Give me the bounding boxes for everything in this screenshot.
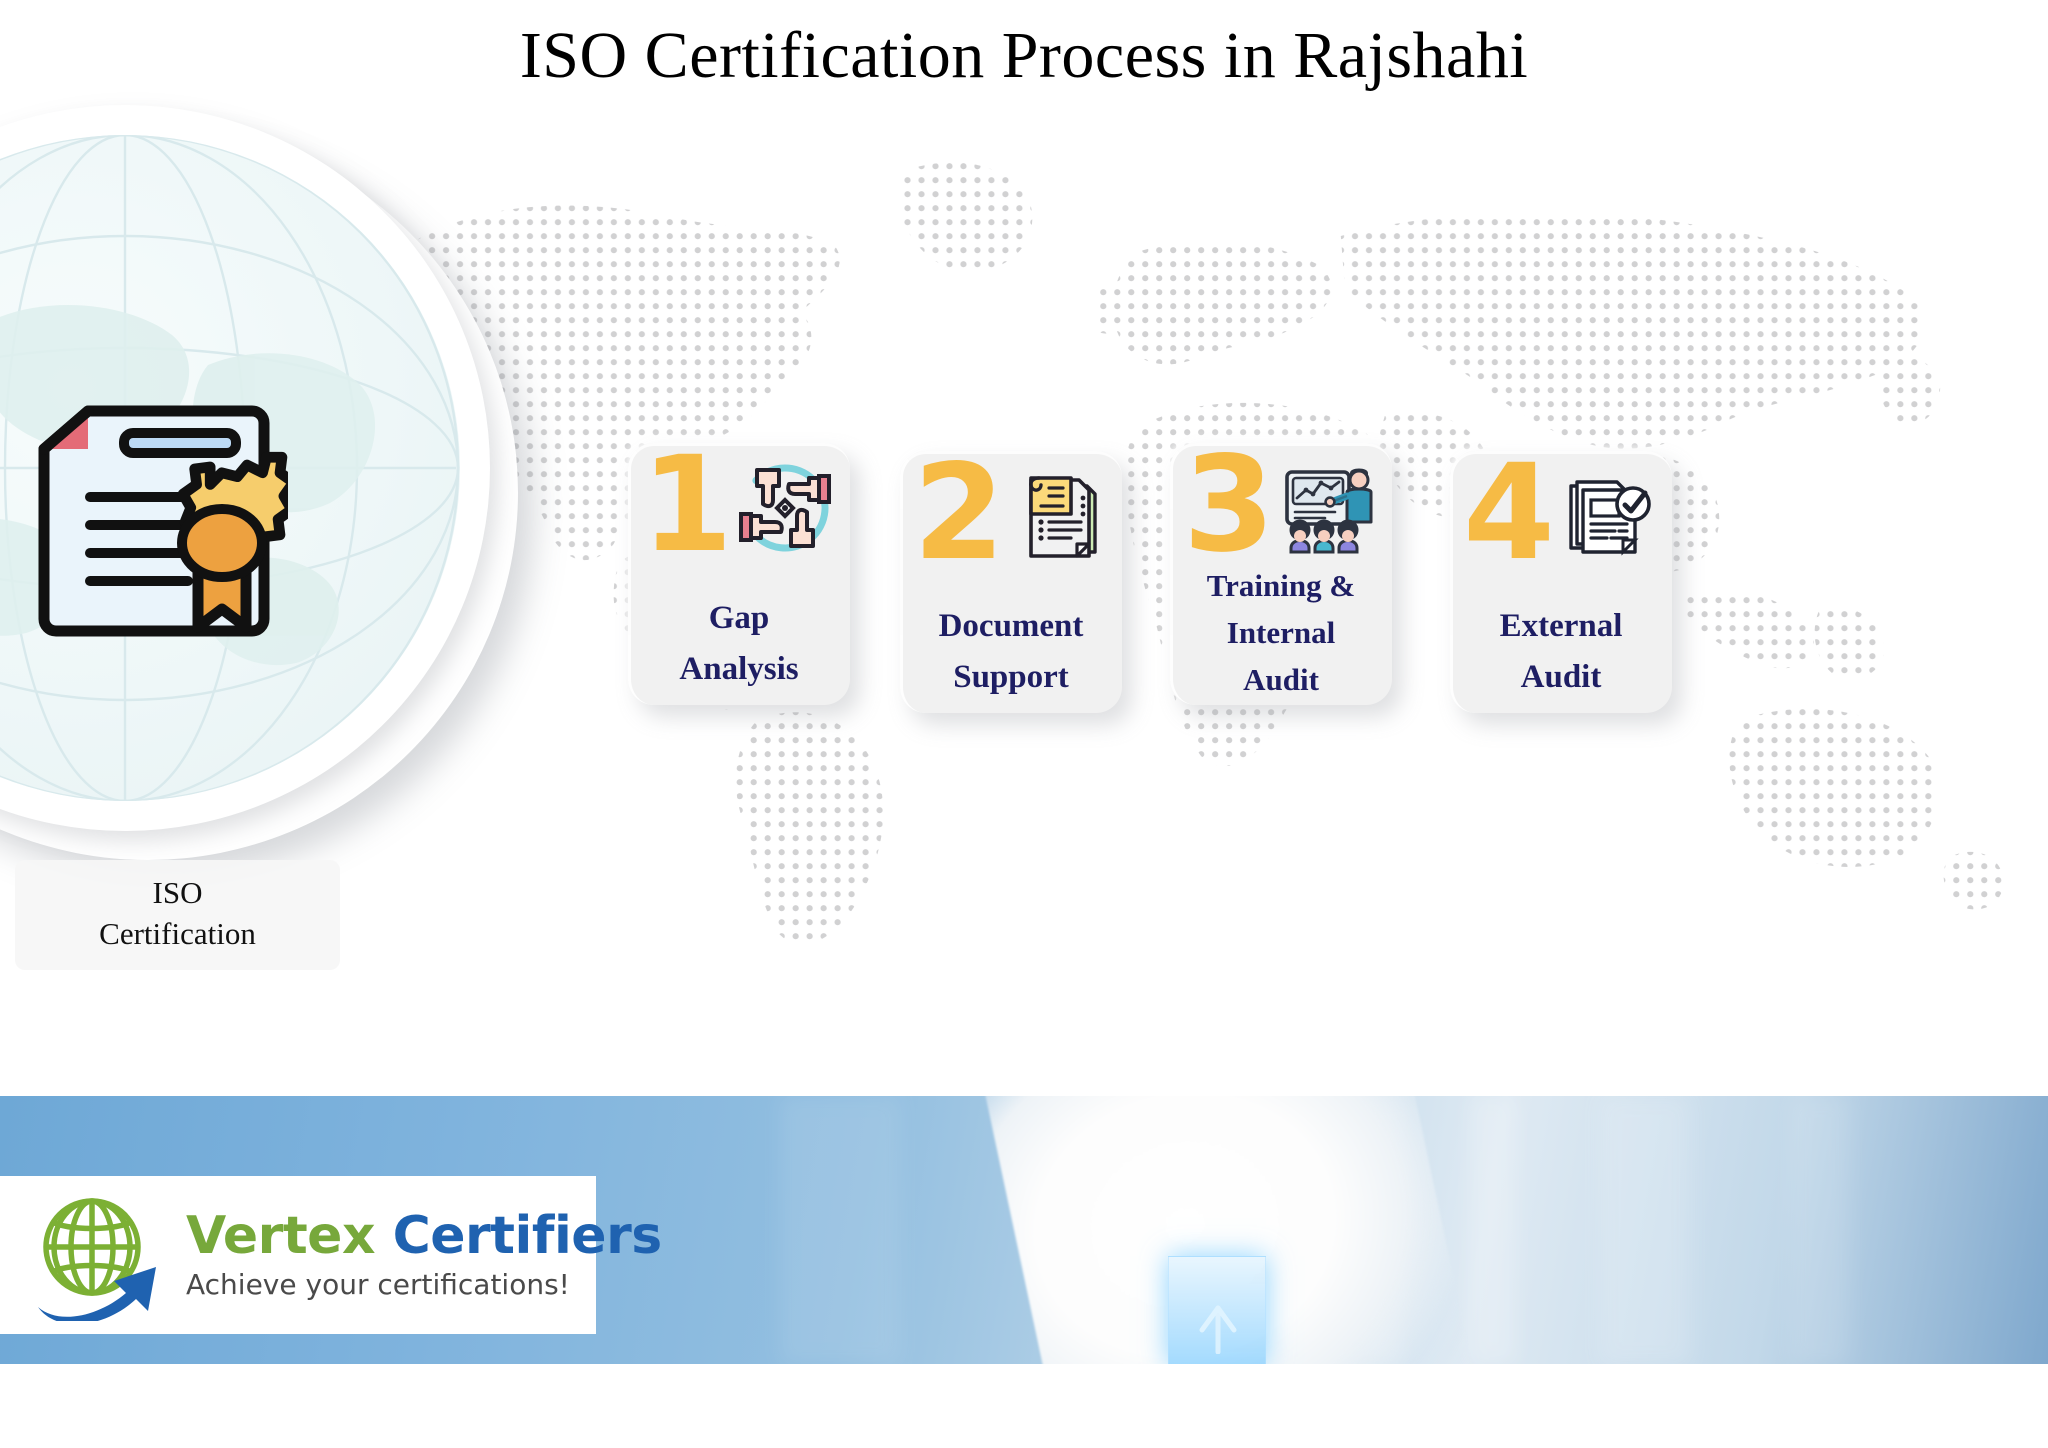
iso-certification-label: ISO Certification bbox=[15, 860, 340, 970]
teamwork-hands-icon bbox=[733, 456, 837, 560]
card-head: 4 bbox=[1450, 451, 1672, 581]
process-steps: 1 Gap Ana bbox=[628, 445, 2038, 795]
step-label-1: Gap Analysis bbox=[632, 593, 846, 695]
iso-label-line2: Certification bbox=[25, 913, 330, 954]
document-clipboard-icon bbox=[1005, 464, 1109, 568]
training-presentation-icon bbox=[1275, 456, 1379, 560]
step-label-4-line2: Audit bbox=[1454, 652, 1668, 703]
logo-text-block: Vertex Certifiers Achieve your certifica… bbox=[186, 1210, 662, 1301]
step-number-3: 3 bbox=[1183, 439, 1271, 571]
step-card-external-audit[interactable]: 4 bbox=[1450, 451, 1672, 713]
logo-tagline: Achieve your certifications! bbox=[186, 1268, 662, 1301]
company-logo[interactable]: Vertex Certifiers Achieve your certifica… bbox=[0, 1176, 596, 1334]
step-card-training-internal-audit[interactable]: 3 bbox=[1170, 443, 1392, 705]
logo-name-part1: Vertex bbox=[186, 1206, 375, 1266]
iso-certification-hero: ISO Certification bbox=[0, 105, 530, 865]
certificate-with-seal-icon bbox=[28, 405, 288, 660]
audit-documents-check-icon bbox=[1555, 464, 1659, 568]
step-number-2: 2 bbox=[913, 447, 1001, 579]
step-label-3: Training & Internal Audit bbox=[1174, 562, 1388, 703]
step-label-4-line1: External bbox=[1454, 601, 1668, 652]
glowing-arrow-icon bbox=[1196, 1294, 1240, 1354]
card-head: 3 bbox=[1170, 443, 1392, 573]
iso-label-line1: ISO bbox=[25, 872, 330, 913]
step-number-1: 1 bbox=[641, 439, 729, 571]
slide-canvas: ISO Certification Process in Rajshahi bbox=[0, 0, 2048, 1448]
step-label-3-line2: Internal bbox=[1174, 609, 1388, 656]
step-label-2-line2: Support bbox=[904, 652, 1118, 703]
logo-name: Vertex Certifiers bbox=[186, 1210, 662, 1262]
step-label-2-line1: Document bbox=[904, 601, 1118, 652]
step-label-3-line1: Training & bbox=[1174, 562, 1388, 609]
step-number-4: 4 bbox=[1463, 447, 1551, 579]
card-head: 2 bbox=[900, 451, 1122, 581]
step-label-1-line2: Analysis bbox=[632, 644, 846, 695]
globe-with-arrow-logo-icon bbox=[28, 1189, 176, 1321]
step-card-document-support[interactable]: 2 bbox=[900, 451, 1122, 713]
page-title: ISO Certification Process in Rajshahi bbox=[0, 18, 2048, 94]
step-card-gap-analysis[interactable]: 1 Gap Ana bbox=[628, 443, 850, 705]
step-label-4: External Audit bbox=[1454, 601, 1668, 703]
logo-name-part2: Certifiers bbox=[393, 1206, 662, 1266]
step-label-1-line1: Gap bbox=[632, 593, 846, 644]
step-label-3-line3: Audit bbox=[1174, 656, 1388, 703]
step-label-2: Document Support bbox=[904, 601, 1118, 703]
card-head: 1 bbox=[628, 443, 850, 573]
